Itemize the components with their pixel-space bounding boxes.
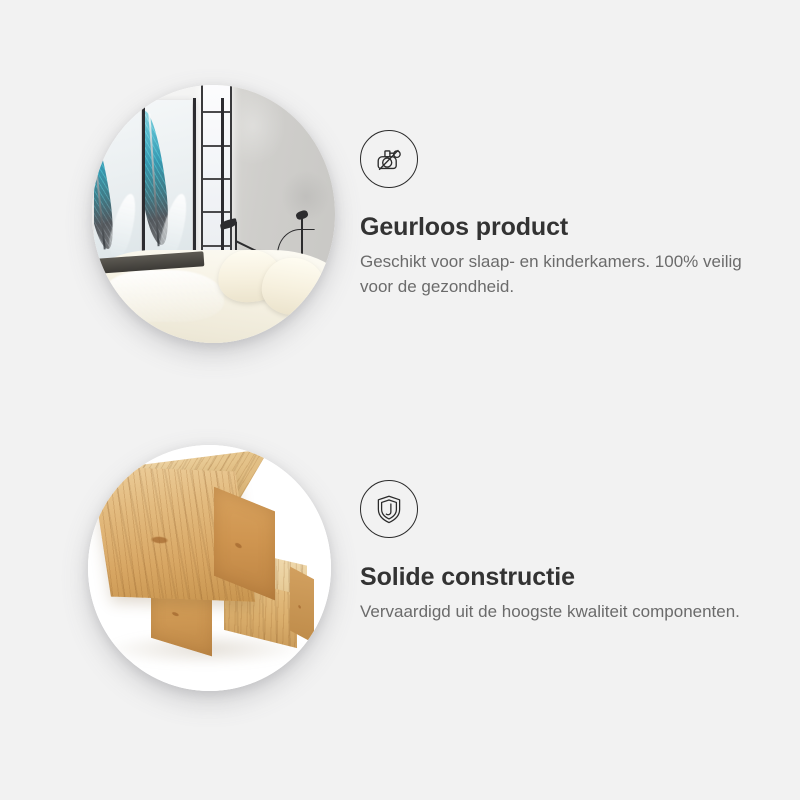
- no-fragrance-glyph: [371, 141, 407, 177]
- feature-content-geurloos-product: Geurloos product Geschikt voor slaap- en…: [360, 130, 760, 299]
- feature-title: Geurloos product: [360, 212, 760, 242]
- canvas-panel-middle: [145, 100, 191, 265]
- wall-lamp-stem: [301, 214, 303, 255]
- feature-title: Solide constructie: [360, 562, 760, 592]
- feature-block-geurloos-product: Geurloos product Geschikt voor slaap- en…: [0, 60, 800, 390]
- canvas-panel-left: [94, 100, 140, 265]
- feature-image-wooden-beams: [88, 445, 331, 691]
- product-feature-page: Geurloos product Geschikt voor slaap- en…: [0, 0, 800, 800]
- bedroom-scene: [92, 85, 335, 343]
- feature-image-bedroom-feather-canvas: [92, 85, 335, 343]
- circular-photo-frame: [92, 85, 335, 343]
- canvas-panel-right: [196, 100, 220, 265]
- wood-beam-right-end: [290, 566, 314, 643]
- no-fragrance-icon: [360, 130, 418, 188]
- shield-icon: [360, 480, 418, 538]
- feature-description: Vervaardigd uit de hoogste kwaliteit com…: [360, 599, 745, 624]
- wooden-beams-scene: [88, 445, 331, 691]
- feature-block-solide-constructie: Solide constructie Vervaardigd uit de ho…: [0, 425, 800, 725]
- panel-frame-edge: [221, 98, 224, 273]
- circular-photo-frame: [88, 445, 331, 691]
- feature-description: Geschikt voor slaap- en kinderkamers. 10…: [360, 249, 745, 299]
- shield-glyph: [372, 492, 406, 526]
- panel-frame-edge: [193, 98, 196, 273]
- feature-content-solide-constructie: Solide constructie Vervaardigd uit de ho…: [360, 480, 760, 624]
- panel-frame-edge: [142, 98, 145, 273]
